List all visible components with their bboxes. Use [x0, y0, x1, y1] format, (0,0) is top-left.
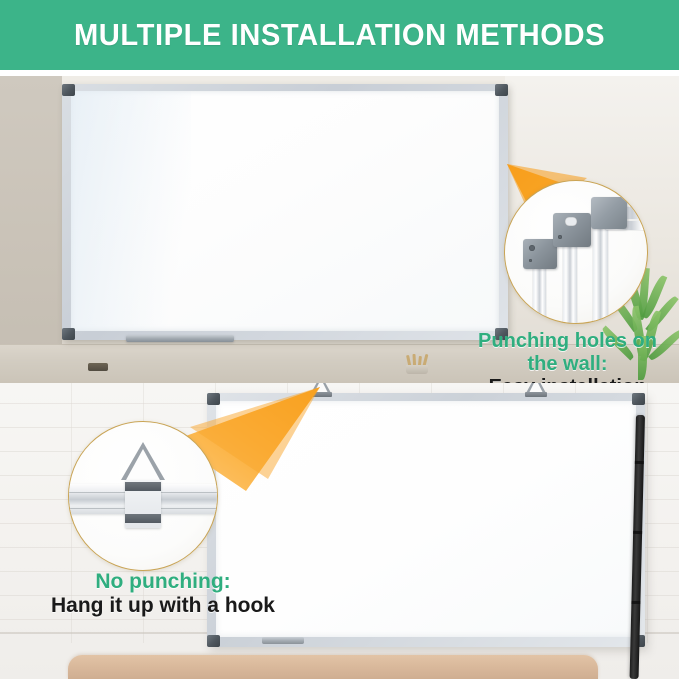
method-two-headline: No punching: — [18, 570, 308, 594]
wall-outlet — [88, 363, 108, 371]
triangle-hanging-hook-icon — [523, 383, 549, 395]
method-one-text: Punching holes on the wall: Easy install… — [456, 330, 679, 383]
whiteboard-glare — [71, 91, 191, 331]
zoom-circle-hook — [68, 421, 218, 571]
cup — [406, 365, 428, 374]
wall-fixing-bracket-icon — [523, 239, 557, 269]
pen-tray — [262, 637, 304, 644]
wall-fixing-bracket-icon — [591, 197, 627, 229]
scene-no-punching — [0, 383, 679, 679]
pencil-cup-icon — [404, 354, 430, 374]
corner-cap-bottom-left — [207, 635, 220, 647]
zoom-circle-fixing-kits — [504, 180, 648, 324]
corner-cap-top-right — [632, 393, 645, 405]
method-two-body: Hang it up with a hook — [18, 594, 308, 618]
banner-title: MULTIPLE INSTALLATION METHODS — [74, 17, 605, 53]
product-feature-image: MULTIPLE INSTALLATION METHODS — [0, 0, 679, 679]
method-one-headline-line1: Punching holes on — [456, 330, 679, 353]
method-one-headline-line2: the wall: — [456, 353, 679, 376]
pen-tray — [126, 335, 234, 342]
wall-fixing-bracket-icon — [553, 213, 591, 247]
corner-cap-top-right — [495, 84, 508, 96]
corner-cap-bottom-left — [62, 328, 75, 340]
scene-punching-holes: Punching holes on the wall: Easy install… — [0, 76, 679, 383]
header-banner: MULTIPLE INSTALLATION METHODS — [0, 0, 679, 70]
sofa-icon — [68, 655, 598, 679]
wall-left-beige — [0, 76, 62, 383]
method-two-text: No punching: Hang it up with a hook — [18, 570, 308, 619]
whiteboard-wall-mounted — [62, 84, 508, 340]
method-one-body-line1: Easy installation — [456, 376, 679, 383]
corner-cap-top-left — [62, 84, 75, 96]
